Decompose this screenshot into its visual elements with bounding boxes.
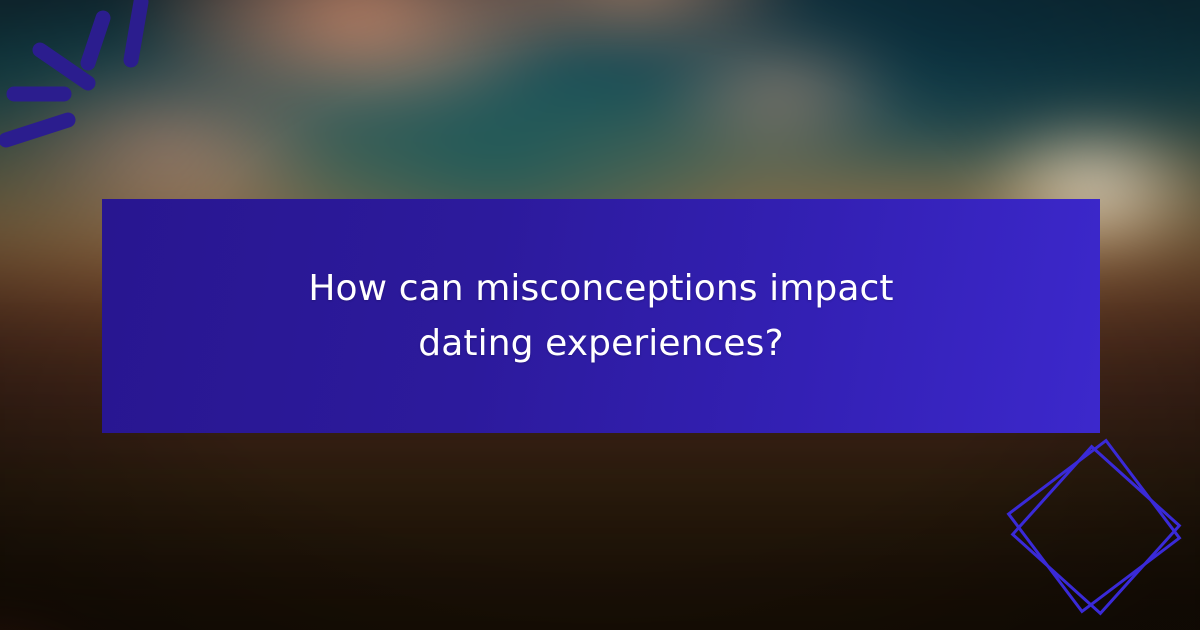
quote-card: How can misconceptions impact dating exp… (0, 0, 1200, 630)
headline-banner: How can misconceptions impact dating exp… (102, 199, 1100, 433)
page-title: How can misconceptions impact dating exp… (251, 261, 951, 371)
